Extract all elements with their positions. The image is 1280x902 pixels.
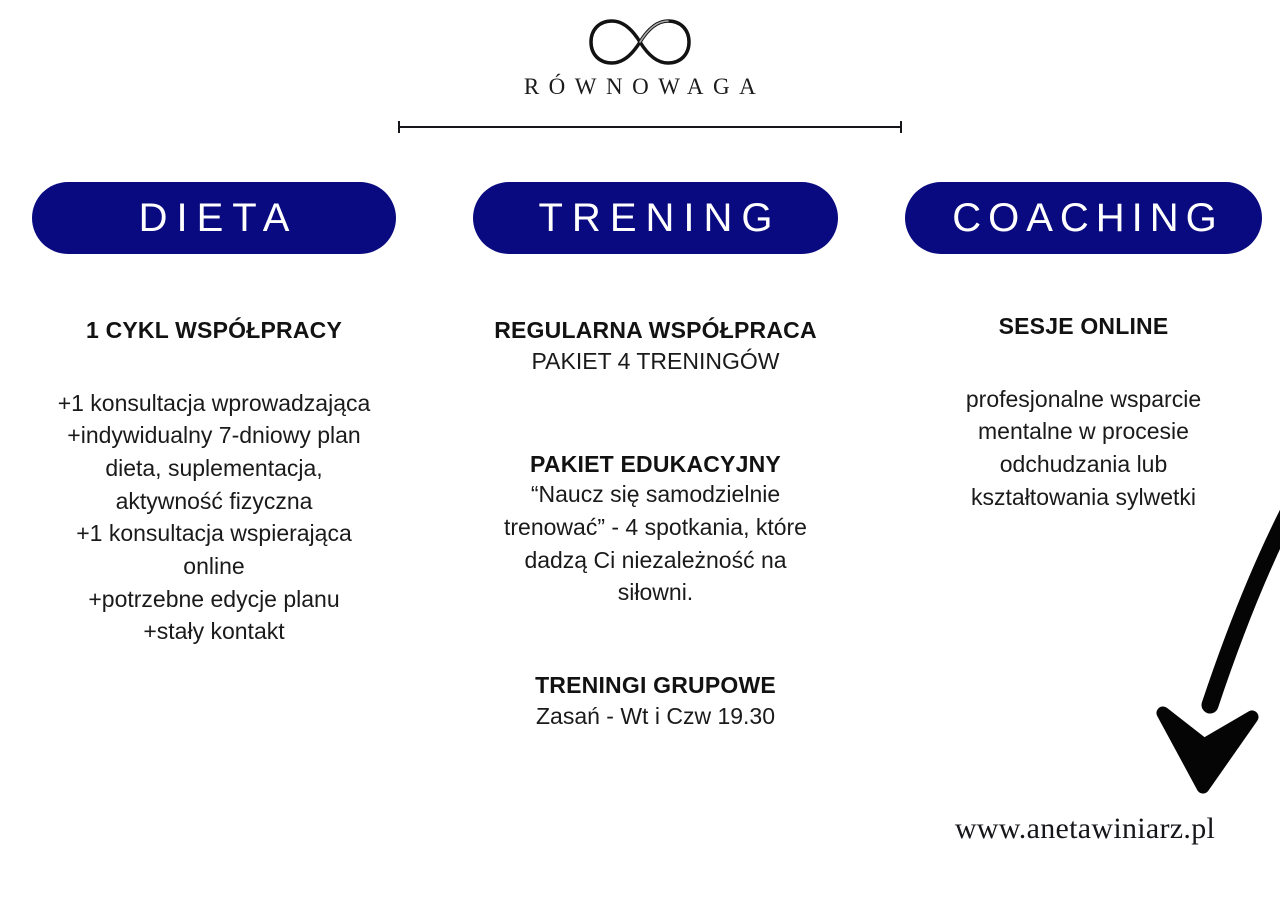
paragraph-pakiet-edukacyjny: “Naucz się samodzielnie trenować” - 4 sp… xyxy=(473,478,838,609)
paragraph-line: “Naucz się samodzielnie xyxy=(473,478,838,511)
paragraph-line: +indywidualny 7-dniowy plan xyxy=(32,419,396,452)
website-url[interactable]: www.anetawiniarz.pl xyxy=(905,812,1265,846)
divider-tick-right xyxy=(900,121,902,133)
brand-name: RÓWNOWAGA xyxy=(0,74,1280,100)
subheading-treningi-grupowe: Zasań - Wt i Czw 19.30 xyxy=(473,702,838,732)
paragraph-line: mentalne w procesie xyxy=(905,415,1262,448)
offer-body-trening: REGULARNA WSPÓŁPRACA PAKIET 4 TRENINGÓW … xyxy=(473,316,838,732)
heading-trening: REGULARNA WSPÓŁPRACA xyxy=(473,316,838,345)
pill-trening[interactable]: TRENING xyxy=(473,182,838,254)
paragraph-line: +1 konsultacja wprowadzająca xyxy=(32,387,396,420)
paragraph-line: trenować” - 4 spotkania, które xyxy=(473,511,838,544)
pill-coaching[interactable]: COACHING xyxy=(905,182,1262,254)
curved-down-arrow xyxy=(1140,495,1280,795)
paragraph-line: profesjonalne wsparcie xyxy=(905,383,1262,416)
pill-label-coaching: COACHING xyxy=(943,198,1224,238)
heading-coaching: SESJE ONLINE xyxy=(905,312,1262,341)
pill-dieta[interactable]: DIETA xyxy=(32,182,396,254)
paragraph-line: dieta, suplementacja, xyxy=(32,452,396,485)
block-pakiet-edukacyjny: PAKIET EDUKACYJNY “Naucz się samodzielni… xyxy=(473,450,838,609)
brand-header: RÓWNOWAGA xyxy=(0,0,1280,100)
divider-line xyxy=(398,126,902,128)
offer-column-coaching: COACHING SESJE ONLINE profesjonalne wspa… xyxy=(905,182,1262,513)
paragraph-coaching: profesjonalne wsparcie mentalne w proces… xyxy=(905,383,1262,514)
paragraph-line: aktywność fizyczna xyxy=(32,485,396,518)
paragraph-line: +stały kontakt xyxy=(32,615,396,648)
paragraph-dieta: +1 konsultacja wprowadzająca +indywidual… xyxy=(32,387,396,648)
offer-column-dieta: DIETA 1 CYKL WSPÓŁPRACY +1 konsultacja w… xyxy=(32,182,396,648)
curved-down-arrow-icon xyxy=(1140,495,1280,795)
offer-body-dieta: 1 CYKL WSPÓŁPRACY +1 konsultacja wprowad… xyxy=(32,316,396,648)
paragraph-line: kształtowania sylwetki xyxy=(905,481,1262,514)
pill-label-trening: TRENING xyxy=(530,198,782,238)
paragraph-line: siłowni. xyxy=(473,576,838,609)
subheading-trening: PAKIET 4 TRENINGÓW xyxy=(473,347,838,377)
paragraph-line: online xyxy=(32,550,396,583)
infinity-icon xyxy=(586,14,694,70)
paragraph-line: +1 konsultacja wspierająca xyxy=(32,517,396,550)
heading-pakiet-edukacyjny: PAKIET EDUKACYJNY xyxy=(473,450,838,479)
offer-body-coaching: SESJE ONLINE profesjonalne wsparcie ment… xyxy=(905,312,1262,513)
header-divider xyxy=(398,121,902,133)
block-treningi-grupowe: TRENINGI GRUPOWE Zasań - Wt i Czw 19.30 xyxy=(473,671,838,732)
paragraph-line: dadzą Ci niezależność na xyxy=(473,544,838,577)
pill-label-dieta: DIETA xyxy=(130,198,299,238)
paragraph-line: +potrzebne edycje planu xyxy=(32,583,396,616)
heading-treningi-grupowe: TRENINGI GRUPOWE xyxy=(473,671,838,700)
heading-dieta: 1 CYKL WSPÓŁPRACY xyxy=(32,316,396,345)
offer-column-trening: TRENING REGULARNA WSPÓŁPRACA PAKIET 4 TR… xyxy=(473,182,838,732)
paragraph-line: odchudzania lub xyxy=(905,448,1262,481)
